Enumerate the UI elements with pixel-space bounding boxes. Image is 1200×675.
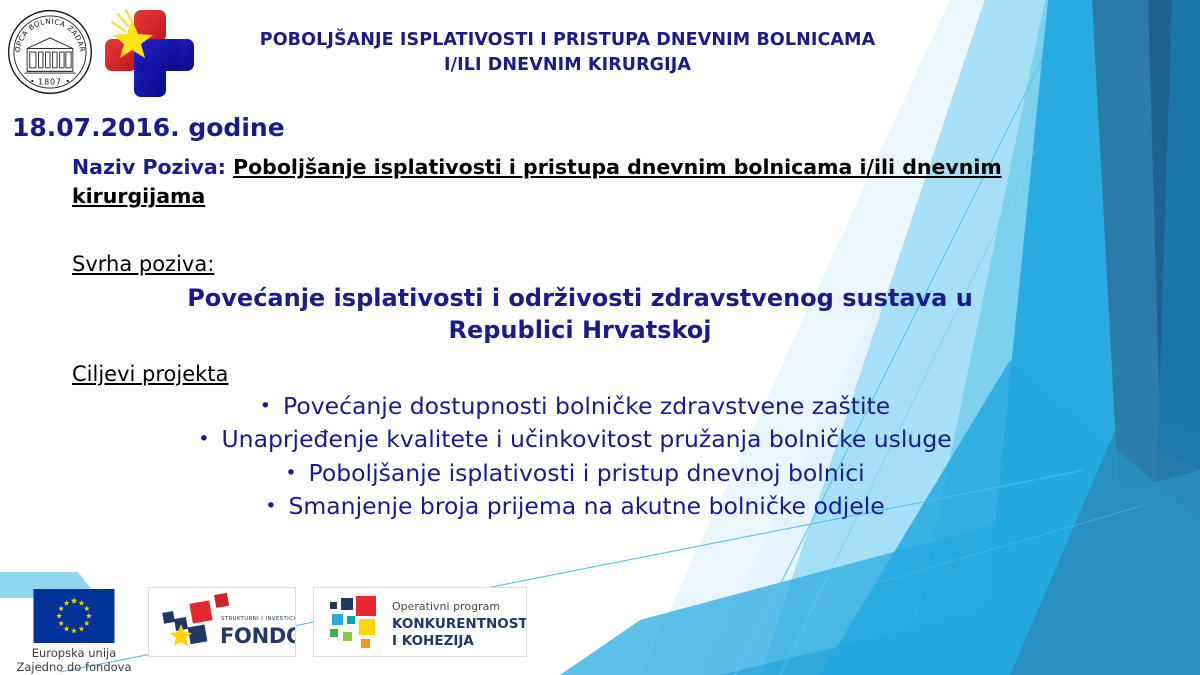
ciljevi-list: •Povećanje dostupnosti bolničke zdravstv…	[0, 390, 1070, 523]
medical-cross-star-icon	[100, 6, 200, 101]
eu-logo: Europska unija Zajedno do fondova EU	[14, 589, 134, 675]
naziv-poziva-line: Naziv Poziva: Poboljšanje isplativosti i…	[72, 153, 1022, 211]
slide-body: 18.07.2016. godine Naziv Poziva: Poboljš…	[0, 112, 1070, 523]
hospital-seal-logo: OPĆA BOLNICA ZADAR 1807	[6, 8, 94, 96]
list-item: •Povećanje dostupnosti bolničke zdravstv…	[120, 390, 1030, 423]
fondovi-logo-graphic: STRUKTURNI I INVESTICIJSKI FONDOVI	[149, 588, 295, 656]
naziv-poziva-label: Naziv Poziva:	[72, 155, 226, 179]
svg-text:Operativni program: Operativni program	[392, 600, 500, 613]
date-text: 18.07.2016. godine	[12, 112, 1070, 143]
eu-caption-line-2: Zajedno do fondova EU	[14, 660, 134, 675]
list-item: •Poboljšanje isplativosti i pristup dnev…	[120, 457, 1030, 490]
list-item-label: Povećanje dostupnosti bolničke zdravstve…	[283, 392, 890, 420]
bullet-icon: •	[260, 393, 271, 420]
list-item-label: Smanjenje broja prijema na akutne bolnič…	[288, 492, 884, 520]
eu-flag-icon	[33, 589, 115, 643]
eu-caption: Europska unija Zajedno do fondova EU	[14, 646, 134, 675]
eu-caption-line-1: Europska unija	[14, 646, 134, 660]
presentation-slide: OPĆA BOLNICA ZADAR 1807	[0, 0, 1200, 675]
svrha-poziva-label: Svrha poziva:	[72, 251, 214, 278]
svg-text:KONKURENTNOST: KONKURENTNOST	[392, 616, 526, 632]
bullet-icon: •	[265, 493, 276, 520]
list-item-label: Poboljšanje isplativosti i pristup dnevn…	[309, 459, 865, 487]
operativni-program-logo-graphic: Operativni program KONKURENTNOST I KOHEZ…	[314, 588, 526, 656]
list-item: •Smanjenje broja prijema na akutne bolni…	[120, 490, 1030, 523]
bullet-icon: •	[285, 460, 296, 487]
svg-text:1807: 1807	[38, 78, 62, 87]
bullet-icon: •	[198, 426, 209, 453]
list-item-label: Unaprjeđenje kvalitete i učinkovitost pr…	[221, 425, 951, 453]
title-line-1: POBOLJŠANJE ISPLATIVOSTI I PRISTUPA DNEV…	[210, 28, 925, 53]
title-line-2: I/ILI DNEVNIM KIRURGIJA	[210, 53, 925, 78]
svg-text:FONDOVI: FONDOVI	[220, 624, 295, 648]
slide-footer: Europska unija Zajedno do fondova EU STR…	[0, 575, 1200, 675]
svg-text:I KOHEZIJA: I KOHEZIJA	[392, 633, 474, 649]
ciljevi-projekta-label: Ciljevi projekta	[72, 361, 228, 388]
slide-title: POBOLJŠANJE ISPLATIVOSTI I PRISTUPA DNEV…	[210, 28, 925, 79]
list-item: •Unaprjeđenje kvalitete i učinkovitost p…	[120, 423, 1030, 456]
slide-header: OPĆA BOLNICA ZADAR 1807	[0, 0, 1200, 110]
operativni-program-logo: Operativni program KONKURENTNOST I KOHEZ…	[313, 587, 527, 657]
svg-text:STRUKTURNI I INVESTICIJSKI: STRUKTURNI I INVESTICIJSKI	[221, 616, 295, 622]
svrha-poziva-value: Povećanje isplativosti i održivosti zdra…	[0, 283, 1070, 347]
fondovi-logo: STRUKTURNI I INVESTICIJSKI FONDOVI	[148, 587, 296, 657]
